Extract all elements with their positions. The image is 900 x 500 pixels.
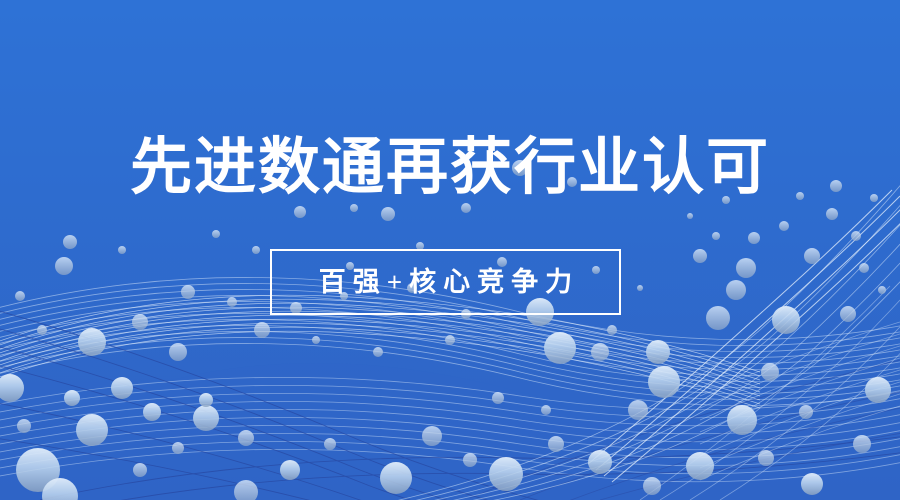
promo-banner: 先进数通再获行业认可 百强+核心竞争力 (0, 0, 900, 500)
banner-subtitle: 百强+核心竞争力 (312, 267, 579, 297)
banner-content: 先进数通再获行业认可 百强+核心竞争力 (0, 0, 900, 500)
subtitle-frame: 百强+核心竞争力 (270, 249, 621, 315)
banner-headline: 先进数通再获行业认可 (0, 134, 900, 202)
